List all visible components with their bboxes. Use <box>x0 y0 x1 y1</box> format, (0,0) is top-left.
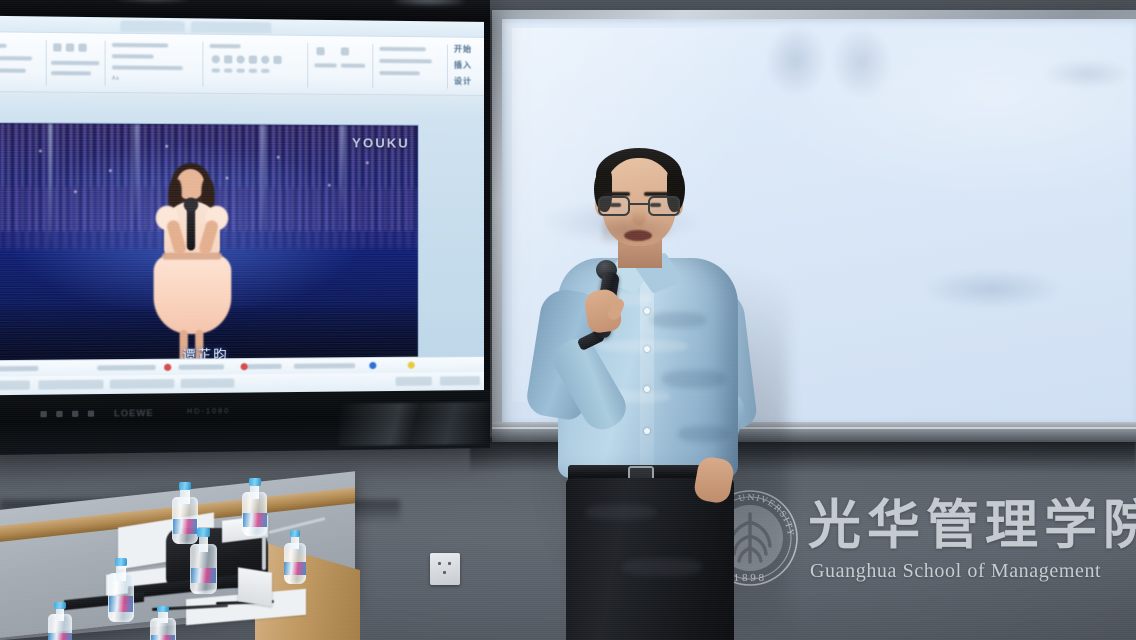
taskbar-window[interactable] <box>181 378 235 388</box>
taskbar-clock <box>440 376 480 385</box>
water-bottle <box>242 478 267 536</box>
display-bezel-bottom: LOEWE HD-1080 <box>0 390 490 455</box>
ribbon-label-cn[interactable]: 开始 <box>454 44 472 55</box>
school-name-english: Guanghua School of Management <box>810 560 1101 583</box>
speaker-trousers <box>566 478 734 640</box>
speaker-presenter <box>520 140 810 640</box>
water-bottle <box>284 530 306 584</box>
ribbon-label-cn[interactable]: 插入 <box>454 60 472 71</box>
water-bottle <box>108 558 134 622</box>
ribbon-group-font[interactable]: Aa <box>108 41 204 87</box>
microphone-stand-post <box>262 536 266 570</box>
lecture-hall-scene: Aa <box>0 0 1136 640</box>
ribbon-group-clipboard[interactable] <box>0 39 47 85</box>
water-bottle <box>150 606 176 640</box>
embedded-video-player[interactable]: 谭芷昀 Celine YOUKU <box>0 123 418 395</box>
taskbar-window[interactable] <box>38 380 103 390</box>
window-tab[interactable] <box>120 20 185 32</box>
projection-display: Aa <box>0 0 490 455</box>
window-tab[interactable] <box>191 21 271 33</box>
taskbar-window[interactable] <box>110 379 175 389</box>
table-nameplate <box>238 567 272 606</box>
app-ribbon[interactable]: Aa <box>0 32 484 96</box>
water-bottle <box>190 528 217 594</box>
school-name-chinese: 光华管理学院 <box>808 492 1136 558</box>
ribbon-group-shapes[interactable] <box>310 43 373 88</box>
ribbon-group-editing[interactable] <box>375 44 448 89</box>
slide-workspace[interactable]: 谭芷昀 Celine YOUKU <box>0 92 484 395</box>
taskbar-start-button[interactable] <box>0 380 30 390</box>
ribbon-group-slides[interactable] <box>49 40 106 86</box>
power-outlet-icon <box>430 553 460 585</box>
water-bottle <box>48 602 72 640</box>
display-brand-label: LOEWE <box>114 408 154 419</box>
ribbon-label-cn[interactable]: 设计 <box>454 76 472 87</box>
ribbon-group-drawing[interactable] <box>205 42 308 88</box>
display-model-label: HD-1080 <box>187 408 230 416</box>
display-control-buttons[interactable] <box>40 411 94 418</box>
display-screen[interactable]: Aa <box>0 16 484 396</box>
video-scanlines <box>0 123 418 395</box>
taskbar-tray[interactable] <box>396 377 432 386</box>
